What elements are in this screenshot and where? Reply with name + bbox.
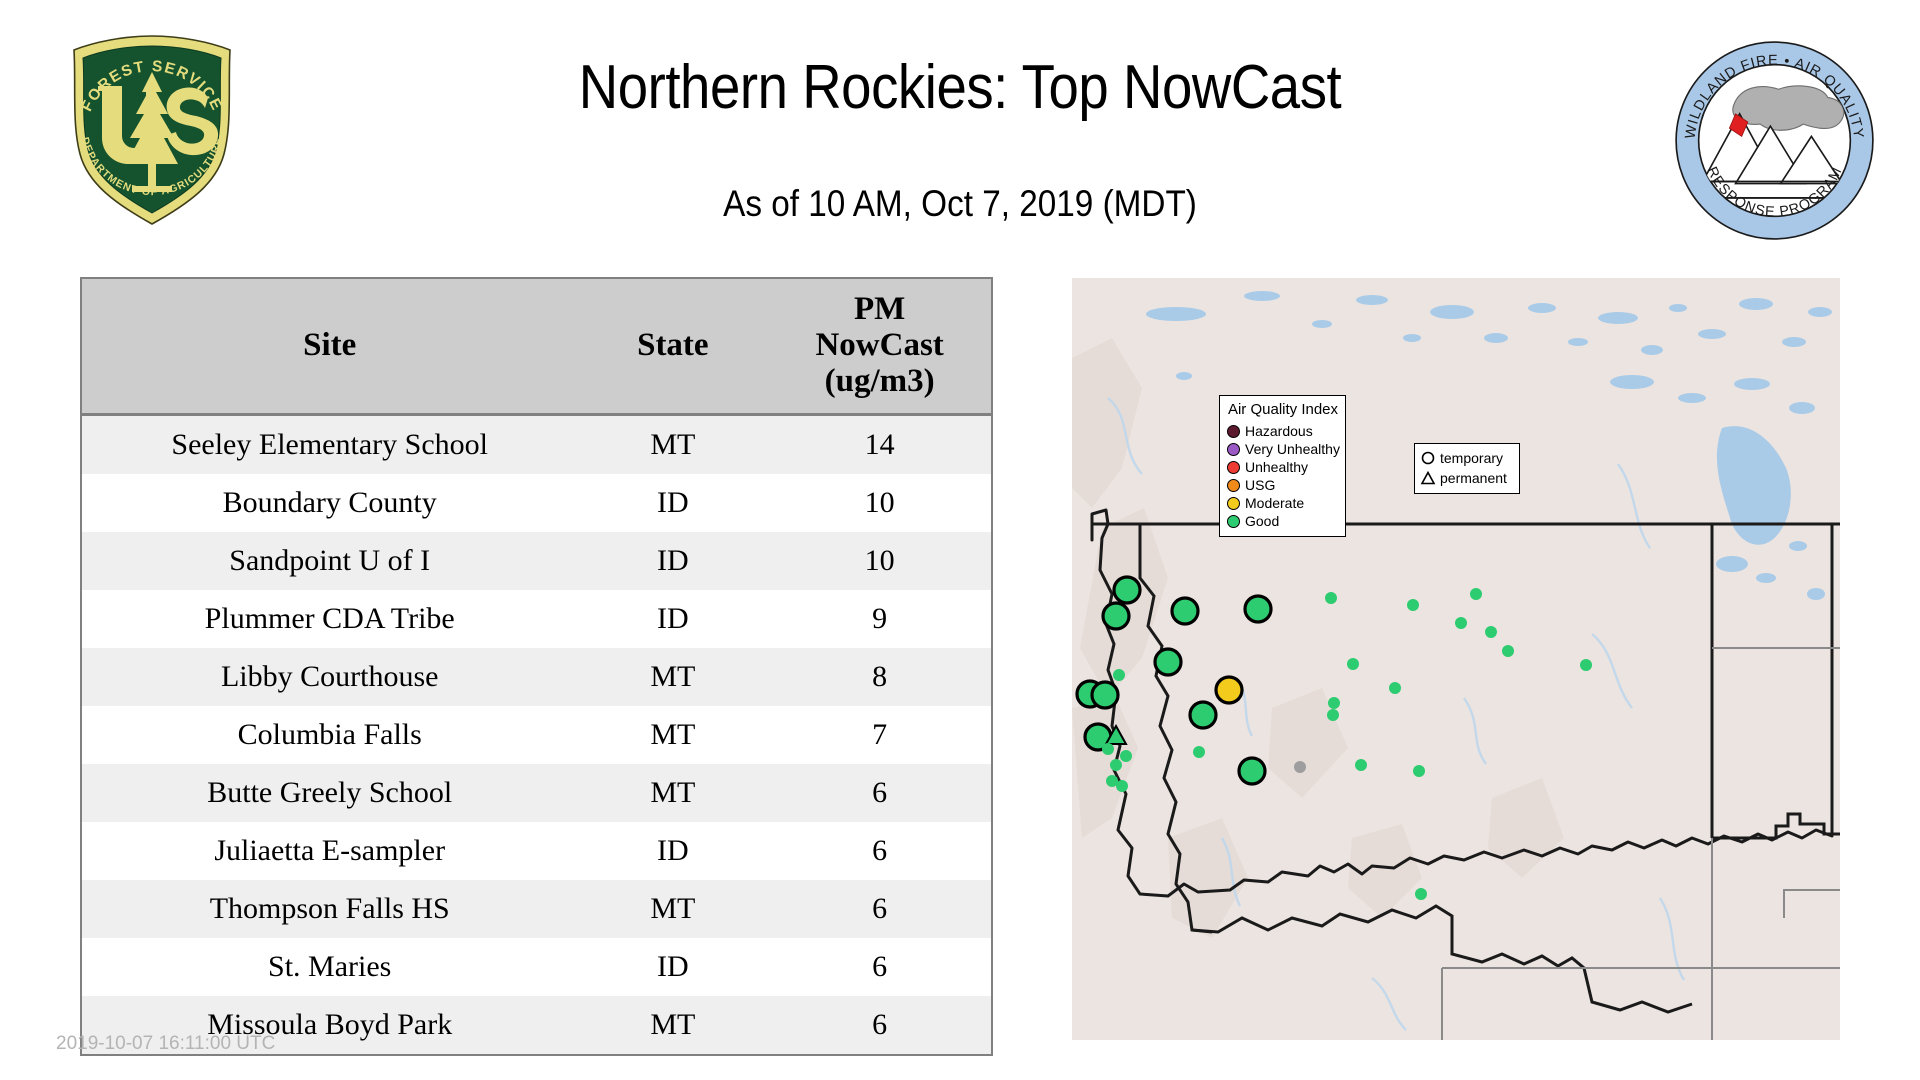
page-title: Northern Rockies: Top NowCast [344, 52, 1576, 124]
legend-label: Unhealthy [1245, 459, 1308, 475]
legend-swatch-icon [1227, 461, 1240, 474]
monitor-marker-small[interactable] [1455, 617, 1467, 629]
table-row: Sandpoint U of IID10 [82, 532, 991, 590]
temporary-circle-icon [1420, 450, 1436, 466]
monitor-marker-large[interactable] [1172, 598, 1198, 624]
cell-state: MT [577, 415, 768, 475]
monitor-marker-small[interactable] [1294, 761, 1306, 773]
monitor-marker-small[interactable] [1102, 743, 1114, 755]
table-row: Butte Greely SchoolMT6 [82, 764, 991, 822]
cell-value: 14 [768, 415, 991, 475]
monitor-marker-large[interactable] [1103, 603, 1129, 629]
cell-site: Thompson Falls HS [82, 880, 577, 938]
table-row: Libby CourthouseMT8 [82, 648, 991, 706]
monitor-marker-small[interactable] [1485, 626, 1497, 638]
monitor-marker-small[interactable] [1407, 599, 1419, 611]
cell-state: ID [577, 590, 768, 648]
table-row: St. MariesID6 [82, 938, 991, 996]
table-row: Thompson Falls HSMT6 [82, 880, 991, 938]
monitor-marker-small[interactable] [1327, 709, 1339, 721]
legend-label: Hazardous [1245, 423, 1313, 439]
pm-header-line2: NowCast [772, 327, 987, 363]
legend-row-usg: USG [1227, 476, 1339, 494]
legend-swatch-icon [1227, 443, 1240, 456]
cell-state: ID [577, 938, 768, 996]
monitor-type-legend: temporary permanent [1414, 443, 1520, 494]
monitor-marker-small[interactable] [1113, 669, 1125, 681]
monitor-marker-large[interactable] [1190, 702, 1216, 728]
cell-site: Juliaetta E-sampler [82, 822, 577, 880]
legend-swatch-icon [1227, 425, 1240, 438]
legend-row-good: Good [1227, 512, 1339, 530]
legend-row-permanent: permanent [1420, 468, 1514, 488]
cell-value: 9 [768, 590, 991, 648]
legend-title: Air Quality Index [1227, 401, 1339, 419]
monitor-marker-small[interactable] [1120, 750, 1132, 762]
legend-row-hazardous: Hazardous [1227, 422, 1339, 440]
usfs-shield-logo: FOREST SERVICE DEPARTMENT OF AGRICULTURE [52, 28, 252, 228]
monitor-marker-small[interactable] [1347, 658, 1359, 670]
monitor-marker-small[interactable] [1328, 697, 1340, 709]
cell-value: 10 [768, 532, 991, 590]
legend-swatch-icon [1227, 479, 1240, 492]
table-row: Columbia FallsMT7 [82, 706, 991, 764]
monitor-map[interactable] [1072, 278, 1840, 1040]
cell-state: ID [577, 474, 768, 532]
column-header-state: State [577, 279, 768, 415]
monitor-marker-large[interactable] [1216, 677, 1242, 703]
legend-label-temporary: temporary [1440, 450, 1503, 466]
cell-value: 6 [768, 822, 991, 880]
legend-row-moderate: Moderate [1227, 494, 1339, 512]
table-row: Seeley Elementary SchoolMT14 [82, 415, 991, 475]
table-row: Boundary CountyID10 [82, 474, 991, 532]
monitor-marker-small[interactable] [1413, 765, 1425, 777]
monitor-marker-small[interactable] [1580, 659, 1592, 671]
monitor-marker-small[interactable] [1389, 682, 1401, 694]
cell-value: 6 [768, 880, 991, 938]
monitor-marker-small[interactable] [1415, 888, 1427, 900]
cell-value: 7 [768, 706, 991, 764]
cell-site: Boundary County [82, 474, 577, 532]
permanent-triangle-icon [1420, 470, 1436, 486]
cell-site: Sandpoint U of I [82, 532, 577, 590]
cell-state: MT [577, 996, 768, 1054]
legend-row-unhealthy: Unhealthy [1227, 458, 1339, 476]
cell-state: MT [577, 764, 768, 822]
cell-site: Columbia Falls [82, 706, 577, 764]
wfaqrp-logo: WILDLAND FIRE • AIR QUALITY RESPONSE PRO… [1672, 38, 1877, 243]
legend-label: Moderate [1245, 495, 1304, 511]
cell-state: MT [577, 880, 768, 938]
monitor-marker-small[interactable] [1110, 759, 1122, 771]
cell-state: MT [577, 706, 768, 764]
column-header-pm-nowcast: PM NowCast (ug/m3) [768, 279, 991, 415]
cell-state: ID [577, 532, 768, 590]
monitor-marker-large[interactable] [1239, 758, 1265, 784]
nowcast-table: Site State PM NowCast (ug/m3) Seeley Ele… [80, 277, 993, 1056]
cell-site: Butte Greely School [82, 764, 577, 822]
legend-swatch-icon [1227, 497, 1240, 510]
footer-timestamp: 2019-10-07 16:11:00 UTC [56, 1033, 275, 1055]
cell-value: 6 [768, 764, 991, 822]
pm-header-line1: PM [772, 291, 987, 327]
legend-label: Good [1245, 513, 1279, 529]
monitor-marker-large[interactable] [1245, 596, 1271, 622]
table-row: Juliaetta E-samplerID6 [82, 822, 991, 880]
monitor-marker-small[interactable] [1325, 592, 1337, 604]
column-header-site: Site [82, 279, 577, 415]
cell-site: Libby Courthouse [82, 648, 577, 706]
page-subtitle: As of 10 AM, Oct 7, 2019 (MDT) [330, 182, 1590, 226]
monitor-marker-small[interactable] [1116, 780, 1128, 792]
table-header-row: Site State PM NowCast (ug/m3) [82, 279, 991, 415]
legend-row-very-unhealthy: Very Unhealthy [1227, 440, 1339, 458]
air-quality-index-legend: Air Quality Index HazardousVery Unhealth… [1219, 395, 1346, 537]
legend-swatch-icon [1227, 515, 1240, 528]
table-row: Plummer CDA TribeID9 [82, 590, 991, 648]
cell-site: Plummer CDA Tribe [82, 590, 577, 648]
monitor-marker-small[interactable] [1502, 645, 1514, 657]
legend-label: Very Unhealthy [1245, 441, 1340, 457]
monitor-marker-large[interactable] [1155, 649, 1181, 675]
cell-site: St. Maries [82, 938, 577, 996]
cell-value: 6 [768, 938, 991, 996]
cell-state: MT [577, 648, 768, 706]
monitor-marker-small[interactable] [1355, 759, 1367, 771]
legend-row-temporary: temporary [1420, 448, 1514, 468]
monitor-marker-small[interactable] [1193, 746, 1205, 758]
cell-value: 6 [768, 996, 991, 1054]
monitor-marker-small[interactable] [1470, 588, 1482, 600]
cell-value: 10 [768, 474, 991, 532]
monitor-marker-large[interactable] [1114, 577, 1140, 603]
legend-label: USG [1245, 477, 1275, 493]
cell-site: Seeley Elementary School [82, 415, 577, 475]
monitor-marker-large[interactable] [1092, 682, 1118, 708]
pm-header-line3: (ug/m3) [772, 363, 987, 399]
monitor-markers [1072, 278, 1840, 1040]
legend-label-permanent: permanent [1440, 470, 1507, 486]
cell-value: 8 [768, 648, 991, 706]
cell-state: ID [577, 822, 768, 880]
